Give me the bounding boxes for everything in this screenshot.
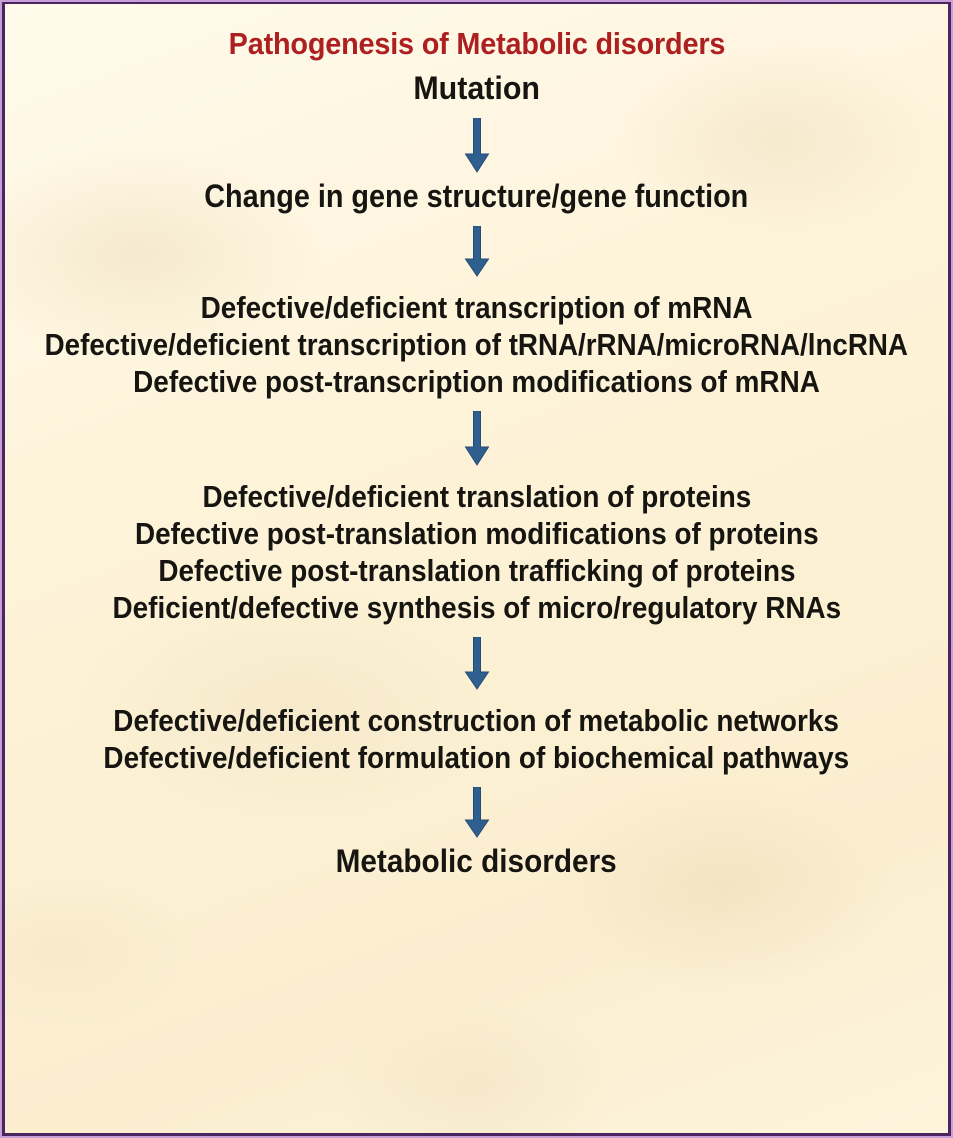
arrow-down-icon [462, 637, 492, 691]
flow-line: Defective/deficient translation of prote… [202, 481, 751, 512]
flow-step-mutation: Mutation [5, 62, 948, 104]
flow-line: Defective/deficient construction of meta… [114, 705, 840, 736]
figure-title: Pathogenesis of Metabolic disorders [228, 26, 725, 62]
figure-border: Pathogenesis of Metabolic disorders Muta… [0, 0, 953, 1138]
flow-step-network-defects: Defective/deficient construction of meta… [5, 705, 948, 773]
flow-step-transcription-defects: Defective/deficient transcription of mRN… [5, 292, 948, 397]
flow-line: Metabolic disorders [336, 845, 617, 877]
flow-step-outcome: Metabolic disorders [5, 845, 948, 877]
flow-step-gene-change: Change in gene structure/gene function [5, 180, 948, 212]
flow-line: Defective/deficient transcription of tRN… [45, 329, 908, 360]
flow-line: Mutation [413, 72, 540, 104]
flow-line: Defective/deficient transcription of mRN… [201, 292, 753, 323]
flow-line: Deficient/defective synthesis of micro/r… [112, 592, 841, 623]
flow-line: Defective post-translation trafficking o… [158, 555, 795, 586]
arrow-down-icon [462, 118, 492, 174]
flow-line: Defective post-transcription modificatio… [133, 366, 820, 397]
arrow-down-icon [462, 226, 492, 278]
flow-step-translation-defects: Defective/deficient translation of prote… [5, 481, 948, 623]
arrow-down-icon [462, 411, 492, 467]
flow-line: Defective post-translation modifications… [135, 518, 819, 549]
figure-canvas: Pathogenesis of Metabolic disorders Muta… [5, 4, 948, 1133]
arrow-down-icon [462, 787, 492, 839]
flow-line: Defective/deficient formulation of bioch… [104, 742, 850, 773]
flow-line: Change in gene structure/gene function [204, 180, 748, 212]
